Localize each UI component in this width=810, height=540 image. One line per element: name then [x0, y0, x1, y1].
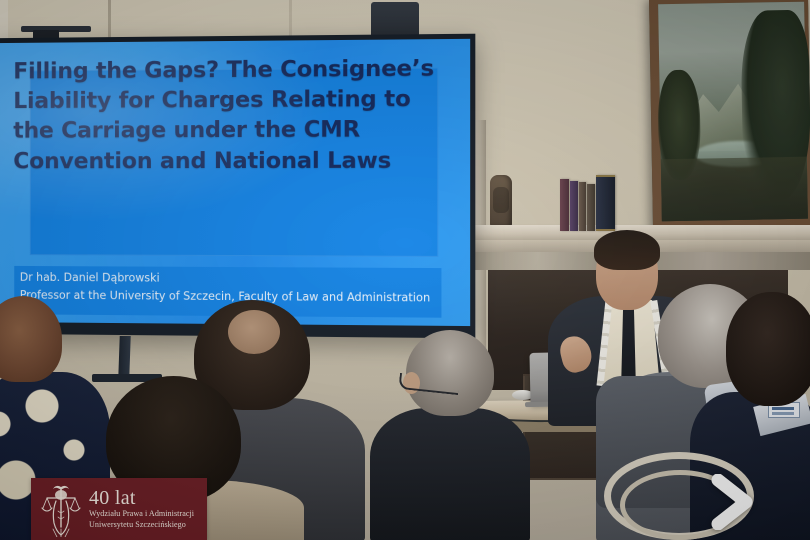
book — [587, 184, 595, 231]
logo-text-block: 40 lat Wydziału Prawa i Administracji Un… — [85, 488, 194, 530]
logo-headline: 40 lat — [89, 488, 194, 509]
conference-photo: Filling the Gaps? The Consignee’s Liabil… — [0, 0, 810, 540]
screen-stand-leg — [118, 336, 130, 378]
presentation-screen: Filling the Gaps? The Consignee’s Liabil… — [0, 34, 475, 339]
logo-line-2: Uniwersytetu Szczecińskiego — [89, 520, 194, 531]
lady-justice-icon — [37, 481, 85, 537]
presenter-hair — [594, 230, 660, 270]
book — [560, 179, 569, 231]
audience-member-body — [370, 408, 530, 540]
screen-bezel — [0, 34, 475, 339]
book — [596, 175, 615, 231]
audience-member-head — [726, 292, 810, 406]
audience-member-scalp — [228, 310, 280, 354]
anniversary-logo: 40 lat Wydziału Prawa i Administracji Un… — [31, 478, 207, 540]
logo-line-1: Wydziału Prawa i Administracji — [89, 509, 194, 520]
book — [570, 181, 578, 231]
books-on-mantel — [560, 175, 650, 231]
audience-member-head — [406, 330, 494, 416]
chevron-right-icon[interactable] — [706, 474, 754, 530]
book — [579, 182, 586, 231]
mantel-ornament — [490, 175, 512, 227]
